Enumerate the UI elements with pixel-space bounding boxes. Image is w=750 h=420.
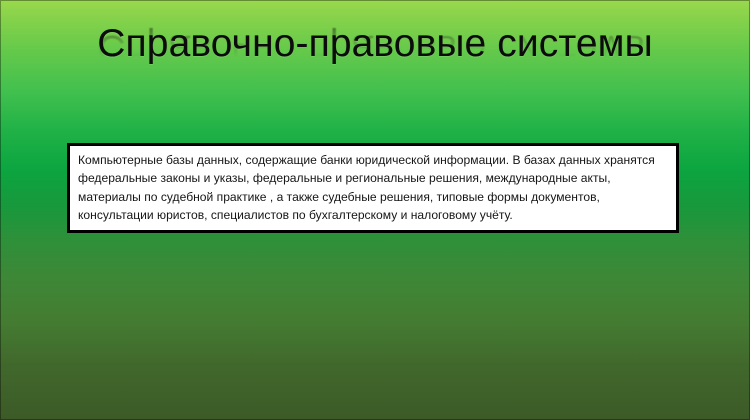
body-paragraph: Компьютерные базы данных, содержащие бан… (78, 151, 668, 224)
body-text-box: Компьютерные базы данных, содержащие бан… (67, 143, 679, 233)
slide-title-block: Справочно-правовые системы Справочно-пра… (0, 22, 750, 112)
presentation-slide: Справочно-правовые системы Справочно-пра… (0, 0, 750, 420)
page-title: Справочно-правовые системы (0, 22, 750, 66)
